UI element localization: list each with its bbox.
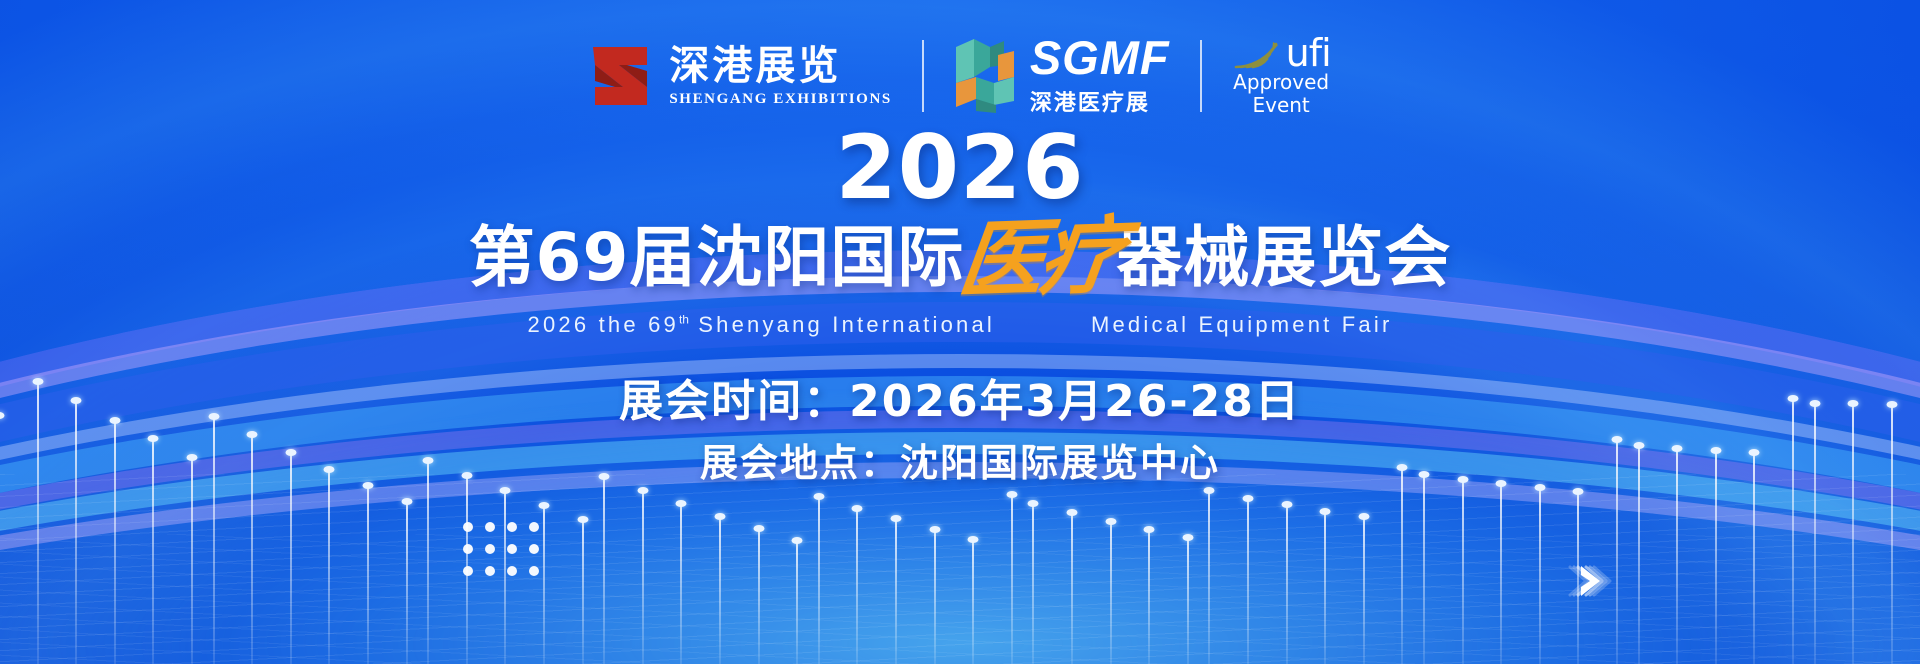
banner-content: 深港展览 SHENGANG EXHIBITIONS: [0, 0, 1920, 490]
event-venue: 展会地点：沈阳国际展览中心: [0, 438, 1920, 490]
logo-shengang-exhibitions[interactable]: 深港展览 SHENGANG EXHIBITIONS: [589, 41, 891, 111]
pin-marker: [1110, 523, 1112, 664]
subtitle-left-rest: Shenyang International: [689, 312, 995, 337]
grid-dot: [529, 544, 539, 554]
grid-dot: [529, 522, 539, 532]
sgmf-name-en: SGMF: [1030, 35, 1170, 81]
grid-dot: [463, 544, 473, 554]
pin-marker: [1247, 500, 1249, 664]
pin-marker: [427, 462, 429, 664]
grid-dot: [463, 522, 473, 532]
ufi-lockup: ufi: [1232, 36, 1331, 70]
logo-divider-1: [922, 40, 924, 112]
pin-marker: [1363, 518, 1365, 664]
year-heading: 2026: [0, 124, 1920, 212]
pin-marker: [582, 521, 584, 664]
pin-marker: [856, 510, 858, 664]
pin-marker: [1148, 531, 1150, 664]
pin-marker: [642, 492, 644, 664]
pin-marker: [543, 507, 545, 664]
grid-dot: [507, 566, 517, 576]
pin-marker: [796, 542, 798, 664]
pin-marker: [328, 471, 330, 664]
ufi-swoosh-icon: [1232, 40, 1280, 70]
grid-dot: [485, 544, 495, 554]
pin-marker: [603, 478, 605, 664]
grid-dot: [529, 566, 539, 576]
pin-marker: [504, 492, 506, 664]
red-s-mark-icon: [589, 41, 653, 111]
dot-grid-decoration: [463, 522, 539, 576]
grid-dot: [463, 566, 473, 576]
pin-marker: [1011, 496, 1013, 664]
ufi-approved-label: Approved: [1233, 71, 1329, 93]
pin-marker: [1071, 514, 1073, 664]
shengang-name-cn: 深港展览: [669, 45, 841, 87]
pin-marker: [1500, 485, 1502, 664]
pin-marker: [818, 498, 820, 664]
pin-marker: [1208, 492, 1210, 664]
pin-marker: [1423, 476, 1425, 664]
grid-dot: [485, 522, 495, 532]
event-date: 展会时间：2026年3月26-28日: [0, 372, 1920, 432]
grid-dot: [507, 522, 517, 532]
subtitle-ordinal: th: [679, 313, 689, 327]
sgmf-name-cn: 深港医疗展: [1030, 85, 1150, 117]
pin-marker: [367, 487, 369, 664]
pin-marker: [1401, 469, 1403, 664]
logo-ufi-approved-event[interactable]: ufi Approved Event: [1232, 36, 1331, 117]
pin-marker: [1187, 539, 1189, 664]
english-subtitle: 2026 the 69th Shenyang InternationalMedi…: [0, 312, 1920, 338]
exhibition-banner: 深港展览 SHENGANG EXHIBITIONS: [0, 0, 1920, 664]
ufi-name: ufi: [1286, 36, 1331, 70]
pin-marker: [191, 459, 193, 664]
headline-brush-medical: 医疗: [955, 213, 1126, 303]
event-info: 展会时间：2026年3月26-28日 展会地点：沈阳国际展览中心: [0, 372, 1920, 490]
pin-marker: [895, 520, 897, 664]
pin-marker: [680, 505, 682, 664]
ufi-event-label: Event: [1252, 94, 1309, 116]
logo-sgmf[interactable]: SGMF 深港医疗展: [954, 35, 1170, 116]
pin-marker: [1539, 489, 1541, 664]
grid-dot: [485, 566, 495, 576]
subtitle-left: 2026 the 69: [528, 312, 679, 337]
logo-row: 深港展览 SHENGANG EXHIBITIONS: [0, 0, 1920, 116]
shengang-name-en: SHENGANG EXHIBITIONS: [669, 91, 891, 108]
headline-part-1: 第69届沈阳国际: [469, 225, 965, 291]
sgmf-wordmark: SGMF 深港医疗展: [1030, 35, 1170, 116]
grid-dot: [507, 544, 517, 554]
pin-marker: [758, 530, 760, 664]
pin-marker: [1032, 505, 1034, 664]
pin-marker: [1324, 513, 1326, 664]
pin-marker: [934, 531, 936, 664]
pin-marker: [1462, 481, 1464, 664]
subtitle-right: Medical Equipment Fair: [1091, 312, 1393, 337]
pin-marker: [972, 541, 974, 664]
shengang-wordmark: 深港展览 SHENGANG EXHIBITIONS: [669, 45, 891, 108]
headline-part-2: 器械展览会: [1116, 225, 1451, 291]
sgmf-cube-mark-icon: [954, 37, 1016, 115]
pin-marker: [406, 503, 408, 664]
main-headline: 第69届沈阳国际 医疗 器械展览会: [0, 216, 1920, 300]
logo-divider-2: [1200, 40, 1202, 112]
pin-marker: [719, 518, 721, 664]
pin-marker: [1286, 506, 1288, 664]
